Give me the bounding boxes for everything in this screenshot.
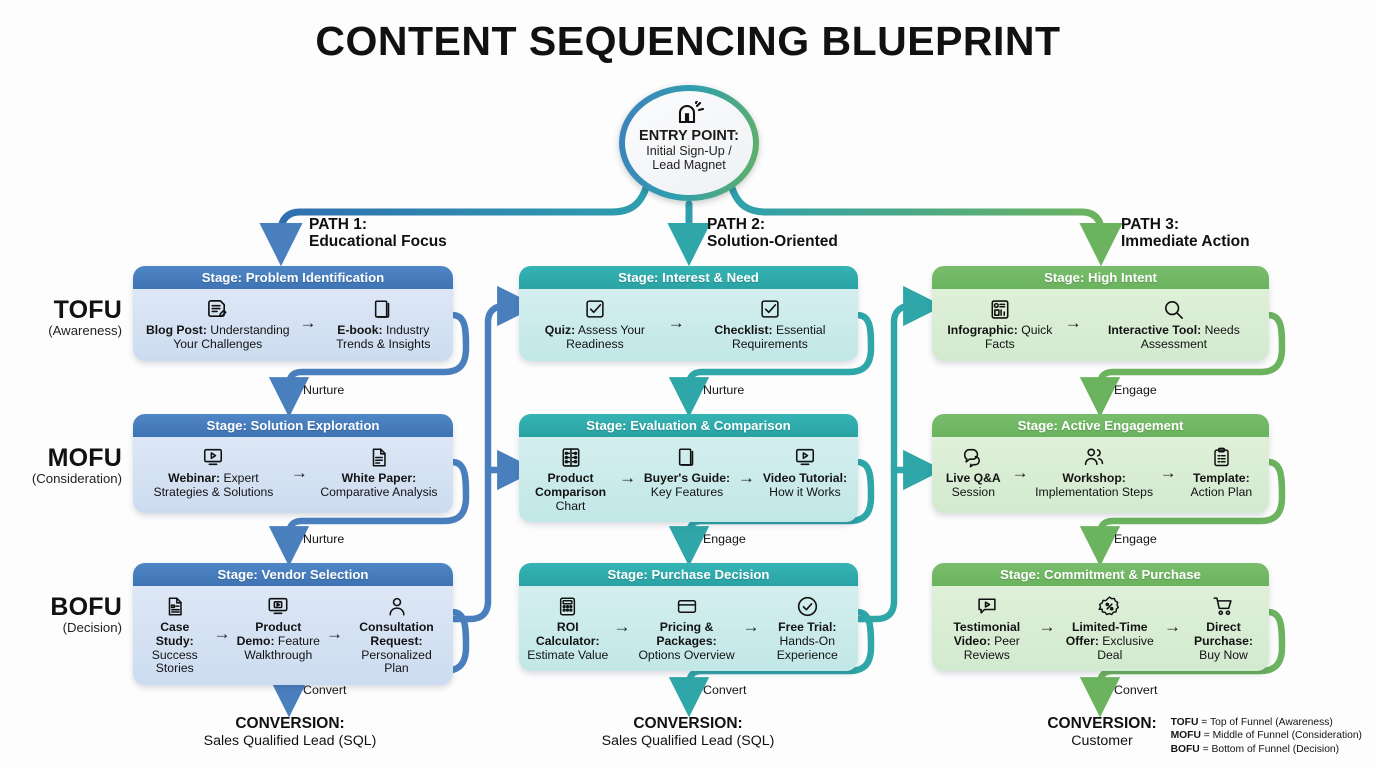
asset-label: Video Tutorial: How it Works	[760, 472, 850, 500]
content-asset-item[interactable]: Live Q&A Session	[940, 444, 1007, 500]
stage-body: ROI Calculator: Estimate Value→Pricing &…	[519, 586, 858, 671]
legend-mofu-text: = Middle of Funnel (Consideration)	[1201, 730, 1362, 741]
conversion-1-title: CONVERSION:	[155, 715, 425, 733]
asset-label: Case Study: Success Stories	[141, 621, 209, 676]
comparison-grid-icon	[560, 444, 582, 470]
sequence-arrow-icon: →	[738, 469, 755, 489]
content-asset-item[interactable]: Checklist: Essential Requirements	[690, 296, 850, 352]
check-circle-icon	[796, 593, 819, 619]
legend-bofu-text: = Bottom of Funnel (Decision)	[1200, 744, 1339, 755]
asset-label: Workshop: Implementation Steps	[1034, 472, 1155, 500]
search-icon	[1162, 296, 1185, 322]
stage-body: Live Q&A Session→Workshop: Implementatio…	[932, 437, 1269, 513]
stage-body: Product Comparison Chart→Buyer's Guide: …	[519, 437, 858, 522]
asset-label: Live Q&A Session	[940, 472, 1007, 500]
content-asset-item[interactable]: Testimonial Video: Peer Reviews	[940, 593, 1034, 662]
person-icon	[386, 593, 408, 619]
case-study-icon	[164, 593, 186, 619]
asset-label: Testimonial Video: Peer Reviews	[940, 621, 1034, 662]
stage-card-path3-1[interactable]: Stage: High IntentInfographic: Quick Fac…	[932, 266, 1269, 361]
video-play-icon	[201, 444, 225, 470]
content-asset-item[interactable]: Case Study: Success Stories	[141, 593, 209, 676]
bofu-code: BOFU	[0, 593, 122, 622]
people-icon	[1082, 444, 1106, 470]
stage-header: Stage: High Intent	[932, 266, 1269, 289]
book-icon	[676, 444, 698, 470]
infographic-icon	[989, 296, 1011, 322]
path-3-line2: Immediate Action	[1121, 233, 1250, 250]
funnel-label-mofu: MOFU (Consideration)	[0, 444, 122, 486]
asset-label: Webinar: Expert Strategies & Solutions	[141, 472, 286, 500]
calculator-icon	[557, 593, 578, 619]
stage-card-path1-2[interactable]: Stage: Solution ExplorationWebinar: Expe…	[133, 414, 453, 513]
stage-header: Stage: Active Engagement	[932, 414, 1269, 437]
conversion-2-title: CONVERSION:	[553, 715, 823, 733]
sequence-arrow-icon: →	[291, 464, 308, 484]
stage-card-path2-3[interactable]: Stage: Purchase DecisionROI Calculator: …	[519, 563, 858, 671]
transition-label-p2-s3: Convert	[703, 683, 746, 697]
credit-card-icon	[675, 593, 699, 619]
stage-header: Stage: Evaluation & Comparison	[519, 414, 858, 437]
content-asset-item[interactable]: Interactive Tool: Needs Assessment	[1087, 296, 1261, 352]
asset-label: Consultation Request: Personalized Plan	[348, 621, 445, 676]
sequence-arrow-icon: →	[1160, 464, 1177, 484]
content-asset-item[interactable]: Quiz: Assess Your Readiness	[527, 296, 663, 352]
path-header-3: PATH 3: Immediate Action	[1121, 216, 1250, 251]
stage-header: Stage: Commitment & Purchase	[932, 563, 1269, 586]
magnet-icon	[673, 101, 705, 127]
sequence-arrow-icon: →	[614, 618, 631, 638]
stage-body: Testimonial Video: Peer Reviews→Limited-…	[932, 586, 1269, 671]
document-pencil-icon	[206, 296, 229, 322]
asset-label: Product Demo: Feature Walkthrough	[236, 621, 321, 662]
content-asset-item[interactable]: Video Tutorial: How it Works	[760, 444, 850, 500]
book-icon	[372, 296, 394, 322]
entry-face: ENTRY POINT: Initial Sign-Up / Lead Magn…	[625, 91, 753, 195]
sequence-arrow-icon: →	[300, 314, 317, 334]
sequence-arrow-icon: →	[326, 625, 343, 645]
content-asset-item[interactable]: E-book: Industry Trends & Insights	[322, 296, 445, 352]
checkbox-check-icon	[759, 296, 781, 322]
stage-header: Stage: Problem Identification	[133, 266, 453, 289]
transition-label-p3-s1: Engage	[1114, 383, 1157, 397]
asset-label: Product Comparison Chart	[527, 472, 614, 513]
transition-label-p1-s3: Convert	[303, 683, 346, 697]
conversion-1-detail: Sales Qualified Lead (SQL)	[155, 733, 425, 750]
transition-label-p2-s2: Engage	[703, 532, 746, 546]
entry-line2: Lead Magnet	[652, 158, 726, 172]
stage-card-path2-2[interactable]: Stage: Evaluation & ComparisonProduct Co…	[519, 414, 858, 522]
monitor-play-icon	[266, 593, 290, 619]
asset-label: Free Trial: Hands-On Experience	[765, 621, 850, 662]
content-asset-item[interactable]: Limited-Time Offer: Exclusive Deal	[1061, 593, 1159, 662]
asset-label: ROI Calculator: Estimate Value	[527, 621, 609, 662]
discount-badge-icon	[1098, 593, 1121, 619]
stage-header: Stage: Solution Exploration	[133, 414, 453, 437]
stage-body: Quiz: Assess Your Readiness→Checklist: E…	[519, 289, 858, 361]
document-lines-icon	[368, 444, 390, 470]
asset-label: Quiz: Assess Your Readiness	[527, 324, 663, 352]
sequence-arrow-icon: →	[214, 625, 231, 645]
asset-label: Interactive Tool: Needs Assessment	[1087, 324, 1261, 352]
legend-bofu-code: BOFU	[1171, 744, 1200, 755]
stage-header: Stage: Purchase Decision	[519, 563, 858, 586]
entry-heading: ENTRY POINT:	[639, 128, 739, 144]
sequence-arrow-icon: →	[619, 469, 636, 489]
funnel-label-bofu: BOFU (Decision)	[0, 593, 122, 635]
path-1-line2: Educational Focus	[309, 233, 447, 250]
content-asset-item[interactable]: Workshop: Implementation Steps	[1034, 444, 1155, 500]
mofu-name: (Consideration)	[0, 471, 122, 486]
path-3-line1: PATH 3:	[1121, 216, 1250, 233]
path-1-line1: PATH 1:	[309, 216, 447, 233]
stage-body: Blog Post: Understanding Your Challenges…	[133, 289, 453, 361]
legend-tofu-code: TOFU	[1171, 717, 1199, 728]
sequence-arrow-icon: →	[668, 314, 685, 334]
stage-header: Stage: Vendor Selection	[133, 563, 453, 586]
path-2-line1: PATH 2:	[707, 216, 838, 233]
path-header-1: PATH 1: Educational Focus	[309, 216, 447, 251]
funnel-label-tofu: TOFU (Awareness)	[0, 296, 122, 338]
path-2-line2: Solution-Oriented	[707, 233, 838, 250]
legend-row-mofu: MOFU = Middle of Funnel (Consideration)	[1171, 729, 1362, 743]
chat-bubbles-icon	[961, 444, 985, 470]
video-play-icon	[793, 444, 817, 470]
asset-label: Pricing & Packages: Options Overview	[636, 621, 738, 662]
stage-body: Case Study: Success Stories→Product Demo…	[133, 586, 453, 685]
transition-label-p3-s2: Engage	[1114, 532, 1157, 546]
legend: TOFU = Top of Funnel (Awareness) MOFU = …	[1171, 716, 1362, 757]
transition-label-p2-s1: Nurture	[703, 383, 744, 397]
blueprint-canvas: CONTENT SEQUENCING BLUEPRINT ENTRY POINT…	[0, 0, 1376, 768]
content-asset-item[interactable]: Blog Post: Understanding Your Challenges	[141, 296, 295, 352]
entry-point-node[interactable]: ENTRY POINT: Initial Sign-Up / Lead Magn…	[619, 85, 759, 201]
asset-label: Buyer's Guide: Key Features	[641, 472, 733, 500]
legend-row-tofu: TOFU = Top of Funnel (Awareness)	[1171, 716, 1362, 730]
asset-label: White Paper: Comparative Analysis	[313, 472, 445, 500]
legend-tofu-text: = Top of Funnel (Awareness)	[1198, 717, 1332, 728]
transition-label-p3-s3: Convert	[1114, 683, 1157, 697]
conversion-path-1: CONVERSION: Sales Qualified Lead (SQL)	[155, 715, 425, 750]
stage-card-path3-3[interactable]: Stage: Commitment & PurchaseTestimonial …	[932, 563, 1269, 671]
stage-body: Infographic: Quick Facts→Interactive Too…	[932, 289, 1269, 361]
path-header-2: PATH 2: Solution-Oriented	[707, 216, 838, 251]
stage-body: Webinar: Expert Strategies & Solutions→W…	[133, 437, 453, 513]
conversion-2-detail: Sales Qualified Lead (SQL)	[553, 733, 823, 750]
sequence-arrow-icon: →	[1039, 618, 1056, 638]
content-asset-item[interactable]: Pricing & Packages: Options Overview	[636, 593, 738, 662]
sequence-arrow-icon: →	[1012, 464, 1029, 484]
content-asset-item[interactable]: Consultation Request: Personalized Plan	[348, 593, 445, 676]
content-asset-item[interactable]: Buyer's Guide: Key Features	[641, 444, 733, 500]
content-asset-item[interactable]: Product Comparison Chart	[527, 444, 614, 513]
stage-card-path2-1[interactable]: Stage: Interest & NeedQuiz: Assess Your …	[519, 266, 858, 361]
conversion-path-2: CONVERSION: Sales Qualified Lead (SQL)	[553, 715, 823, 750]
content-asset-item[interactable]: White Paper: Comparative Analysis	[313, 444, 445, 500]
content-asset-item[interactable]: ROI Calculator: Estimate Value	[527, 593, 609, 662]
stage-card-path3-2[interactable]: Stage: Active EngagementLive Q&A Session…	[932, 414, 1269, 513]
transition-label-p1-s2: Nurture	[303, 532, 344, 546]
sequence-arrow-icon: →	[1164, 618, 1181, 638]
tofu-name: (Awareness)	[0, 323, 122, 338]
legend-row-bofu: BOFU = Bottom of Funnel (Decision)	[1171, 743, 1362, 757]
sequence-arrow-icon: →	[1065, 314, 1082, 334]
entry-line1: Initial Sign-Up /	[646, 144, 731, 158]
asset-label: Infographic: Quick Facts	[940, 324, 1060, 352]
asset-label: Checklist: Essential Requirements	[690, 324, 850, 352]
mofu-code: MOFU	[0, 444, 122, 473]
video-testimonial-icon	[975, 593, 999, 619]
asset-label: Limited-Time Offer: Exclusive Deal	[1061, 621, 1159, 662]
legend-mofu-code: MOFU	[1171, 730, 1201, 741]
clipboard-icon	[1211, 444, 1232, 470]
asset-label: Blog Post: Understanding Your Challenges	[141, 324, 295, 352]
shopping-cart-icon	[1211, 593, 1235, 619]
content-asset-item[interactable]: Direct Purchase: Buy Now	[1186, 593, 1261, 662]
asset-label: E-book: Industry Trends & Insights	[322, 324, 445, 352]
asset-label: Direct Purchase: Buy Now	[1186, 621, 1261, 662]
transition-label-p1-s1: Nurture	[303, 383, 344, 397]
content-asset-item[interactable]: Product Demo: Feature Walkthrough	[236, 593, 321, 662]
checkbox-check-icon	[584, 296, 606, 322]
stage-header: Stage: Interest & Need	[519, 266, 858, 289]
bofu-name: (Decision)	[0, 620, 122, 635]
content-asset-item[interactable]: Template: Action Plan	[1182, 444, 1261, 500]
tofu-code: TOFU	[0, 296, 122, 325]
content-asset-item[interactable]: Free Trial: Hands-On Experience	[765, 593, 850, 662]
asset-label: Template: Action Plan	[1182, 472, 1261, 500]
stage-card-path1-1[interactable]: Stage: Problem IdentificationBlog Post: …	[133, 266, 453, 361]
sequence-arrow-icon: →	[743, 618, 760, 638]
content-asset-item[interactable]: Infographic: Quick Facts	[940, 296, 1060, 352]
stage-card-path1-3[interactable]: Stage: Vendor SelectionCase Study: Succe…	[133, 563, 453, 685]
content-asset-item[interactable]: Webinar: Expert Strategies & Solutions	[141, 444, 286, 500]
